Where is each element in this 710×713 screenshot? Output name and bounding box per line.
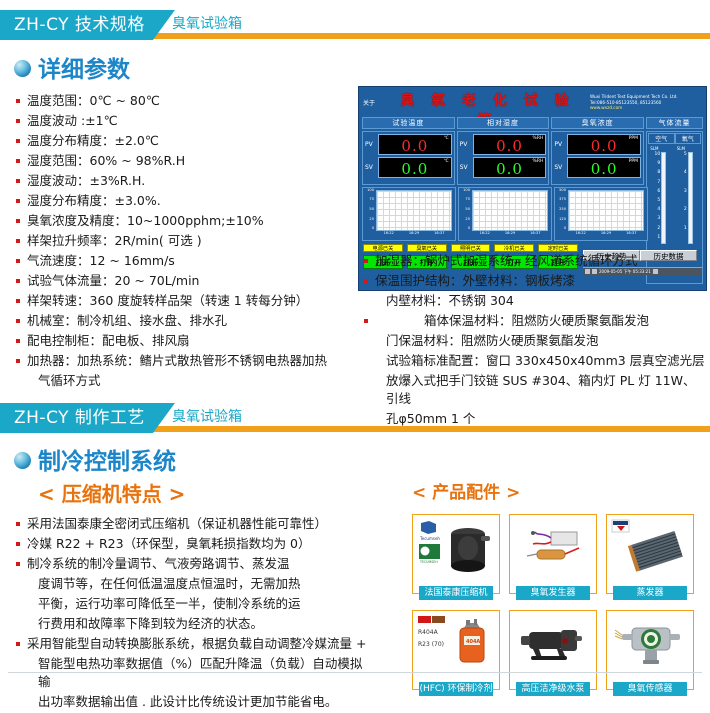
chart-plot-area [568,190,644,231]
column-header-ozone: 臭氧浓度 [551,117,644,129]
lcd-unit: %RH [533,159,544,164]
meter-sv-row: SV 0.0 ℃ [365,157,452,178]
gauge-unit-label: SLM [650,146,658,151]
lcd-unit: ℃ [444,159,449,164]
pv-label: PV [365,141,376,148]
accessories-title: < 产品配件 > [412,478,708,503]
feature-item: 制冷系统的制冷量调节、气液旁路调节、蒸发温 [14,555,374,573]
cooling-system-label: 制冷控制系统 [38,442,176,476]
chart-y-axis: 100 75 50 25 0 [459,188,471,231]
spec-item: 湿度范围：60% ~ 98%R.H [14,152,354,170]
footer-divider [8,672,702,673]
accessory-card-compressor[interactable]: Tecumseh TECUMSEH 法国泰康压缩机 [412,514,500,594]
gauge-air-tube [661,152,666,244]
feature-item: 采用法国泰康全密闭式压缩机（保证机器性能可靠性） [14,515,374,533]
meter-sv-row: SV 0.0 %RH [460,157,547,178]
spec-item: 试验气体流量：20 ~ 70L/min [14,272,354,290]
trend-chart-ozone: 500 375 250 125 0 16:2216:2916:37 [554,187,648,241]
ozone-sensor-illustration [610,614,690,677]
lcd-value: 0.0 [379,160,451,178]
column-header-humidity: 相对湿度 [457,117,550,129]
spec-column-left: 详细参数 温度范围：0℃ ~ 80℃ 温度波动 :±1℃ 温度分布精度：±2.0… [14,50,354,392]
meter-pv-row: PV 0.0 ℃ [365,134,452,155]
accessory-card-refrigerant[interactable]: R404A R23 (70) 404A (HFC) 环保制冷剂 [412,610,500,690]
feature-item: 采用智能型自动转换膨胀系统，根据负载自动调整冷媒流量 + [14,635,374,653]
spec-item: 机械室：制冷机组、接水盘、排水孔 [14,312,354,330]
spec-list-right: 加湿器：锅炉式加湿系统，经风道系统循环方式 保温围护结构：外壁材料：钢板烤漆 内… [362,252,707,427]
accessory-caption: 法国泰康压缩机 [419,586,493,600]
detail-params-headline: 详细参数 [14,50,354,84]
cooling-system-headline: 制冷控制系统 [14,442,374,476]
pv-label: PV [460,141,471,148]
spec-item: 样架拉升频率：2R/min( 可选 ) [14,232,354,250]
feature-item: 冷媒 R22 + R23（环保型，臭氧耗损指数均为 0） [14,535,374,553]
lcd-humidity-pv: 0.0 %RH [473,134,547,155]
ozone-generator-icon [513,518,595,580]
meter-sv-row: SV 0.0 PPM [554,157,641,178]
gauge-unit-label: SLM [677,146,685,151]
feature-item-continuation: 度调节等，在任何低温温度点恒温时，无需加热 [14,575,374,593]
accessory-caption: 蒸发器 [613,586,687,600]
section-1-subtitle: 臭氧试验箱 [172,10,242,40]
status-badge-light: 照明已关 [451,244,491,252]
trend-chart-temperature: 100 75 50 25 0 16:2216:2916:37 [362,187,456,241]
chart-y-axis: 500 375 250 125 0 [555,188,567,231]
spec-item: 配电控制柜：配电板、排风扇 [14,332,354,350]
meter-pv-row: PV 0.0 %RH [460,134,547,155]
feature-item-continuation: 平衡，运行功率可降低至一半，使制冷系统的运 [14,595,374,613]
gas-flow-headers: 空气 氧气 [648,133,701,144]
hmi-readouts: PV 0.0 ℃ SV 0.0 ℃ PV [359,129,706,185]
chart-plot-area [472,190,548,231]
chart-x-axis: 16:2216:2916:37 [568,231,644,239]
meter-temperature: PV 0.0 ℃ SV 0.0 ℃ [362,131,455,185]
status-badge-power: 电源已关 [363,244,403,252]
spec-item: 温度范围：0℃ ~ 80℃ [14,92,354,110]
chart-x-axis: 16:2216:2916:37 [376,231,452,239]
spec-item-indent: 门保温材料：阻燃防火硬质聚氨酯发泡 [362,332,707,350]
evaporator-illustration [610,518,690,581]
section-1-tag: ZH-CY 技术规格 [0,10,175,40]
meter-humidity: PV 0.0 %RH SV 0.0 %RH [457,131,550,185]
section-2-subtitle: 臭氧试验箱 [172,403,242,433]
spec-item: 加湿器：锅炉式加湿系统，经风道系统循环方式 [362,252,707,270]
section-2-tag: ZH-CY 制作工艺 [0,403,175,433]
spec-item-continuation: 气循环方式 [14,372,354,390]
status-badge-ozone: 臭氧已关 [407,244,447,252]
accessory-card-ozone-sensor[interactable]: 臭氧传感器 [606,610,694,690]
flow-header-oxygen: 氧气 [675,133,702,144]
spec-item: 温度分布精度：±2.0℃ [14,132,354,150]
spec-item-tail: 试验箱标准配置：窗口 330x450x40mm3 层真空滤光层 [362,352,707,370]
sv-label: SV [554,164,565,171]
status-badge-timer: 定时已关 [538,244,578,252]
lcd-humidity-sv: 0.0 %RH [473,157,547,178]
spec-list-left: 温度范围：0℃ ~ 80℃ 温度波动 :±1℃ 温度分布精度：±2.0℃ 湿度范… [14,92,354,390]
lcd-unit: ℃ [444,136,449,141]
spec-item: 湿度分布精度：±3.0%. [14,192,354,210]
lcd-temp-pv: 0.0 ℃ [378,134,452,155]
svg-text:Tecumseh: Tecumseh [419,536,440,541]
column-header-temp: 试验温度 [362,117,455,129]
lcd-value: 0.0 [379,137,451,155]
accessories-row-2: R404A R23 (70) 404A (HFC) 环保制冷剂 [412,610,708,690]
spec-item: 湿度波动：±3%R.H. [14,172,354,190]
compressor-feature-list: 采用法国泰康全密闭式压缩机（保证机器性能可靠性） 冷媒 R22 + R23（环保… [14,515,374,710]
meter-ozone: PV 0.0 PPM SV 0.0 PPM [551,131,644,185]
refrigerant-illustration: R404A R23 (70) 404A [416,614,496,677]
feature-item-continuation: 行费用和故障率下降到较为经济的状态。 [14,615,374,633]
accessory-card-water-pump[interactable]: 高压洁净级水泵 [509,610,597,690]
lcd-unit: %RH [533,136,544,141]
refrigerant-line-2: R23 (70) [418,641,444,648]
refrigerant-icon: R404A R23 (70) 404A [416,614,498,676]
section-2-header: ZH-CY 制作工艺 臭氧试验箱 [0,403,710,433]
gauge-air: SLM 10 9 8 7 6 5 4 3 2 1 [648,146,675,244]
hmi-column-headers: 试验温度 相对湿度 臭氧浓度 气体流量 [359,117,706,129]
gauge-oxygen: SLM 5 4 3 2 1 [675,146,702,244]
trend-chart-humidity: 100 75 50 25 0 16:2216:2916:37 [458,187,552,241]
hmi-about-label: 关于 [363,98,385,107]
refrigerant-line-1: R404A [418,629,439,636]
gauge-oxygen-tube [688,152,693,244]
accessory-caption: 高压洁净级水泵 [516,682,590,696]
compressor-illustration: Tecumseh TECUMSEH [416,518,496,581]
sv-label: SV [365,164,376,171]
accessory-caption: (HFC) 环保制冷剂 [419,682,493,696]
chart-y-axis: 100 75 50 25 0 [363,188,375,231]
ozone-sensor-icon [610,614,692,676]
chart-plot-area [376,190,452,231]
hmi-trend-charts: 100 75 50 25 0 16:2216:2916:37 100 75 50… [359,185,651,241]
feature-item-continuation: 出功率数据输出值 . 此设计比传统设计更加节能省电。 [14,693,374,711]
accessories-block: < 产品配件 > Tecumseh TECUMSEH 法国泰康压缩 [412,478,708,690]
lcd-ozone-pv: 0.0 PPM [567,134,641,155]
gauge-air-ticks: 10 9 8 7 6 5 4 3 2 1 [650,152,660,244]
evaporator-icon [610,518,692,580]
accessory-caption: 臭氧发生器 [516,586,590,600]
spec-item: 气流速度：12 ~ 16mm/s [14,252,354,270]
spec-item: 温度波动 :±1℃ [14,112,354,130]
accessory-card-ozone-generator[interactable]: 臭氧发生器 [509,514,597,594]
lcd-temp-sv: 0.0 ℃ [378,157,452,178]
status-badge-chiller: 冷机已关 [494,244,534,252]
ozone-generator-illustration [513,518,593,581]
spec-item-indent: 内壁材料：不锈钢 304 [362,292,707,310]
lcd-unit: PPM [629,159,638,164]
hmi-titlebar: 关于 臭 氧 老 化 试 验 箱 Wuxi Trident Test Equip… [359,87,706,117]
sphere-bullet-icon [14,60,31,77]
pv-label: PV [554,141,565,148]
svg-text:404A: 404A [466,639,480,645]
water-pump-icon [513,614,595,676]
lcd-ozone-sv: 0.0 PPM [567,157,641,178]
lcd-unit: PPM [629,136,638,141]
gas-flow-gauges: SLM 10 9 8 7 6 5 4 3 2 1 [648,144,701,244]
spec-item: 保温围护结构：外壁材料：钢板烤漆 [362,272,707,290]
spec-item: 样架转速：360 度旋转样品架（转速 1 转每分钟） [14,292,354,310]
compressor-icon: Tecumseh TECUMSEH [416,518,498,580]
section-1-header: ZH-CY 技术规格 臭氧试验箱 [0,10,710,40]
accessory-caption: 臭氧传感器 [613,682,687,696]
hmi-company-info: Wuxi Trident Test Equipment Tech Co. Ltd… [590,90,702,111]
flow-header-air: 空气 [648,133,675,144]
spec-item-indent: 箱体保温材料：阻燃防火硬质聚氨酯发泡 [362,312,707,330]
spec-item-tail: 放爆入式把手门铰链 SUS #304、箱内灯 PL 灯 11W、引线 [362,372,707,407]
spec-item: 臭氧浓度及精度：10~1000pphm;±10% [14,212,354,230]
sv-label: SV [460,164,471,171]
gauge-oxygen-ticks: 5 4 3 2 1 [677,152,687,244]
compressor-features-subhead: < 压缩机特点 > [38,478,374,507]
water-pump-illustration [513,614,593,677]
accessories-row-1: Tecumseh TECUMSEH 法国泰康压缩机 [412,514,708,594]
svg-text:TECUMSEH: TECUMSEH [419,560,438,564]
column-header-gasflow: 气体流量 [646,117,703,129]
company-website: www.wxzd.com [590,105,702,111]
spec-item: 加热器：加热系统：鳍片式散热管形不锈钢电热器加热 [14,352,354,370]
accessory-card-evaporator[interactable]: 蒸发器 [606,514,694,594]
sphere-bullet-icon [14,452,31,469]
chart-x-axis: 16:2216:2916:37 [472,231,548,239]
meter-pv-row: PV 0.0 PPM [554,134,641,155]
detail-params-label: 详细参数 [38,50,130,84]
